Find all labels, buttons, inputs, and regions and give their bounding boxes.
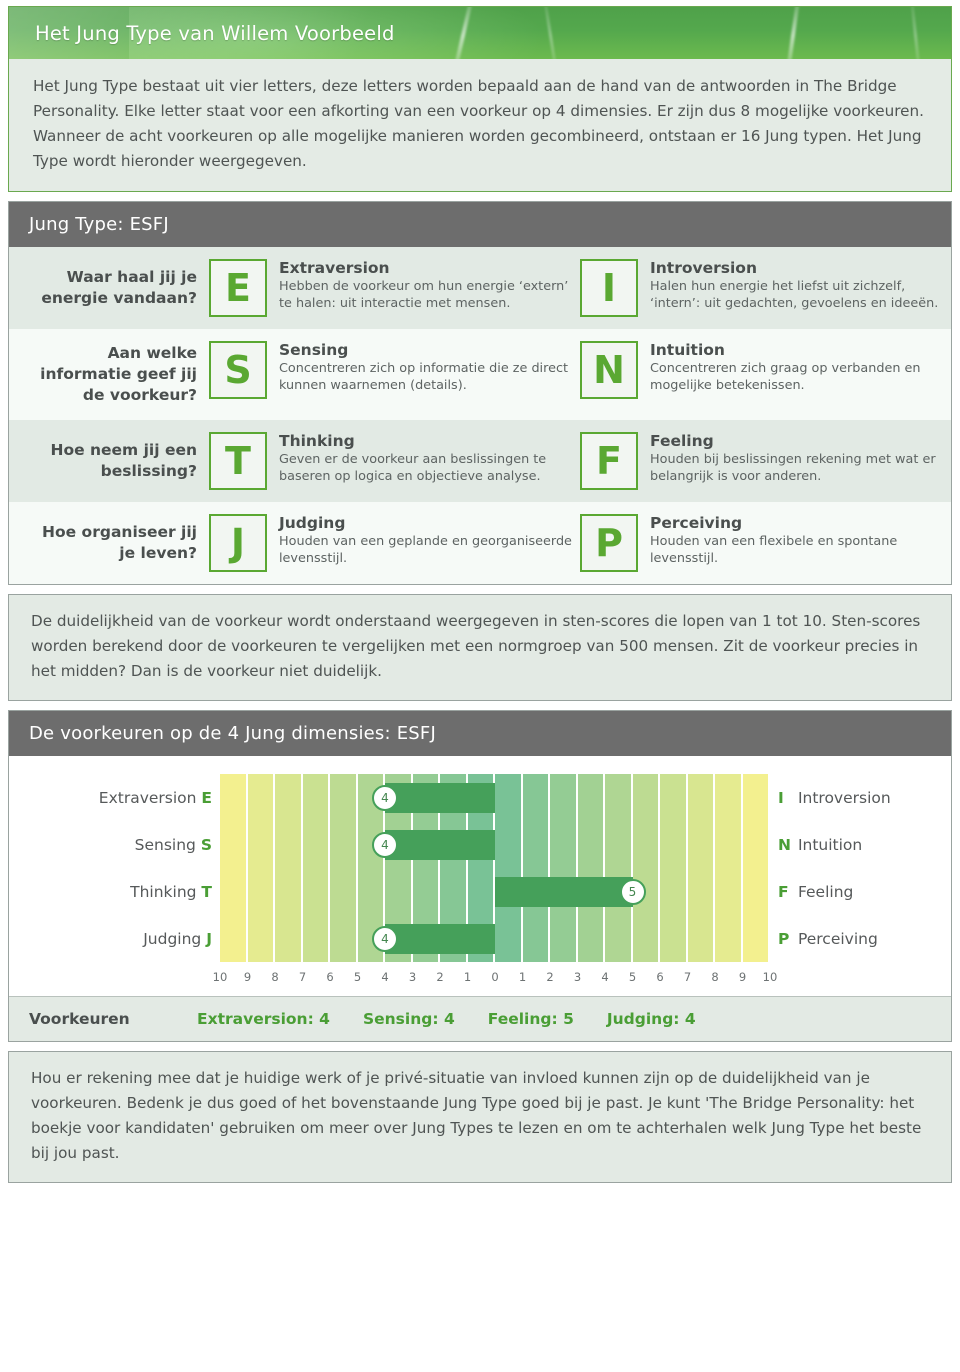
chart-tick-label: 10	[763, 970, 778, 984]
preference-name: Introversion	[650, 259, 943, 277]
chart-band	[248, 774, 274, 962]
chart-band	[220, 774, 246, 962]
chart-row-letter: E	[201, 789, 212, 807]
letter-box-t: T	[209, 432, 267, 490]
preference-description: Concentreren zich graag op verbanden en …	[650, 360, 943, 394]
chart-tick-label: 1	[464, 970, 471, 984]
preference-description: Houden van een flexibele en spontane lev…	[650, 533, 943, 567]
chart-left-row-label: Sensing S	[135, 836, 212, 854]
letter-box-e: E	[209, 259, 267, 317]
preference-cell-i: IIntroversionHalen hun energie het liefs…	[580, 247, 951, 329]
chart-left-labels: Extraversion ESensing SThinking TJudging…	[9, 774, 212, 962]
jung-type-row: Hoe organiseer jij je leven?JJudgingHoud…	[9, 502, 951, 584]
chart-right-labels: I IntroversionN IntuitionF FeelingP Perc…	[778, 774, 960, 962]
report-page: Het Jung Type van Willem Voorbeeld Het J…	[0, 0, 960, 1372]
chart-row-label: Sensing	[135, 836, 196, 854]
chart-tick-label: 10	[213, 970, 228, 984]
dimension-question: Aan welke informatie geef jij de voorkeu…	[9, 329, 209, 420]
jung-type-table: Waar haal jij je energie vandaan?EExtrav…	[9, 247, 951, 584]
preference-description: Hebben de voorkeur om hun energie ‘exter…	[279, 278, 572, 312]
jung-type-header: Jung Type: ESFJ	[9, 202, 951, 247]
chart-tick-label: 2	[436, 970, 443, 984]
chart-tick-label: 3	[574, 970, 581, 984]
chart-row-label: Introversion	[798, 789, 891, 807]
intro-text: Het Jung Type bestaat uit vier letters, …	[9, 59, 951, 191]
chart-bar	[385, 924, 495, 954]
jung-type-row: Waar haal jij je energie vandaan?EExtrav…	[9, 247, 951, 329]
chart-band	[605, 774, 631, 962]
jung-type-row: Hoe neem jij een beslissing?TThinkingGev…	[9, 420, 951, 502]
preference-cell-n: NIntuitionConcentreren zich graag op ver…	[580, 329, 951, 420]
chart-tick-label: 5	[629, 970, 636, 984]
chart-tick-label: 9	[739, 970, 746, 984]
preference-text: ExtraversionHebben de voorkeur om hun en…	[279, 259, 572, 312]
letter-box-p: P	[580, 514, 638, 572]
preference-cell-p: PPerceivingHouden van een flexibele en s…	[580, 502, 951, 584]
chart-tick-label: 6	[656, 970, 663, 984]
chart-row-label: Judging	[143, 930, 201, 948]
preference-name: Sensing	[279, 341, 572, 359]
chart-row-label: Feeling	[798, 883, 853, 901]
chart-row-label: Thinking	[130, 883, 196, 901]
chart-tick-label: 2	[546, 970, 553, 984]
preference-description: Halen hun energie het liefst uit zichzel…	[650, 278, 943, 312]
preference-name: Extraversion	[279, 259, 572, 277]
chart-score-marker: 4	[372, 832, 398, 858]
chart-plot	[220, 774, 770, 962]
chart-score-marker: 5	[620, 879, 646, 905]
preference-cell-f: FFeelingHouden bij beslissingen rekening…	[580, 420, 951, 502]
chart-tick-label: 4	[601, 970, 608, 984]
leaf-vein-icon	[785, 7, 801, 59]
preference-text: SensingConcentreren zich op informatie d…	[279, 341, 572, 394]
chart-bar	[495, 877, 633, 907]
chart-header: De voorkeuren op de 4 Jung dimensies: ES…	[9, 711, 951, 756]
preference-score: Judging: 4	[607, 1010, 696, 1028]
preference-cell-s: SSensingConcentreren zich op informatie …	[209, 329, 580, 420]
letter-box-s: S	[209, 341, 267, 399]
chart-tick-label: 7	[684, 970, 691, 984]
chart-band	[743, 774, 769, 962]
chart-band	[523, 774, 549, 962]
letter-box-j: J	[209, 514, 267, 572]
dimension-question: Hoe organiseer jij je leven?	[9, 502, 209, 584]
letter-box-n: N	[580, 341, 638, 399]
chart-band	[660, 774, 686, 962]
chart-left-row-label: Extraversion E	[99, 789, 212, 807]
preference-cell-j: JJudgingHouden van een geplande en georg…	[209, 502, 580, 584]
preference-text: FeelingHouden bij beslissingen rekening …	[650, 432, 943, 485]
chart-tick-label: 5	[354, 970, 361, 984]
chart-band	[715, 774, 741, 962]
chart-row-letter: P	[778, 930, 793, 948]
preferences-chart-panel: De voorkeuren op de 4 Jung dimensies: ES…	[8, 710, 952, 1042]
preference-cell-e: EExtraversionHebben de voorkeur om hun e…	[209, 247, 580, 329]
chart-row-letter: T	[201, 883, 212, 901]
preference-description: Concentreren zich op informatie die ze d…	[279, 360, 572, 394]
chart-tick-label: 4	[381, 970, 388, 984]
chart-right-row-label: I Introversion	[778, 789, 891, 807]
chart-row-letter: J	[206, 930, 212, 948]
chart-tick-label: 8	[271, 970, 278, 984]
chart-left-row-label: Judging J	[143, 930, 212, 948]
chart-row-letter: N	[778, 836, 793, 854]
letter-box-f: F	[580, 432, 638, 490]
preference-text: IntroversionHalen hun energie het liefst…	[650, 259, 943, 312]
preference-name: Intuition	[650, 341, 943, 359]
dimension-question: Waar haal jij je energie vandaan?	[9, 247, 209, 329]
letter-box-i: I	[580, 259, 638, 317]
chart-band	[688, 774, 714, 962]
chart-left-row-label: Thinking T	[130, 883, 212, 901]
chart-x-axis-ticks: 10987654321012345678910	[220, 970, 770, 990]
preference-score: Extraversion: 4	[197, 1010, 330, 1028]
preference-name: Feeling	[650, 432, 943, 450]
preferences-summary-row: Voorkeuren Extraversion: 4Sensing: 4Feel…	[9, 996, 951, 1041]
preference-description: Geven er de voorkeur aan beslissingen te…	[279, 451, 572, 485]
chart-bar	[385, 830, 495, 860]
preference-text: JudgingHouden van een geplande en georga…	[279, 514, 572, 567]
chart-tick-label: 1	[519, 970, 526, 984]
chart-tick-label: 8	[711, 970, 718, 984]
preference-text: PerceivingHouden van een flexibele en sp…	[650, 514, 943, 567]
preference-score: Feeling: 5	[488, 1010, 574, 1028]
chart-row-label: Perceiving	[798, 930, 878, 948]
preferences-label: Voorkeuren	[29, 1010, 197, 1028]
chart-bar	[385, 783, 495, 813]
chart-score-marker: 4	[372, 785, 398, 811]
chart-band	[495, 774, 521, 962]
sten-score-note: De duidelijkheid van de voorkeur wordt o…	[8, 594, 952, 701]
chart-row-label: Intuition	[798, 836, 862, 854]
preference-name: Perceiving	[650, 514, 943, 532]
preferences-values: Extraversion: 4Sensing: 4Feeling: 5Judgi…	[197, 1010, 729, 1028]
chart-band	[303, 774, 329, 962]
chart-row-letter: F	[778, 883, 793, 901]
preference-description: Houden bij beslissingen rekening met wat…	[650, 451, 943, 485]
chart-tick-label: 7	[299, 970, 306, 984]
chart-right-row-label: P Perceiving	[778, 930, 878, 948]
chart-right-row-label: F Feeling	[778, 883, 853, 901]
chart-right-row-label: N Intuition	[778, 836, 862, 854]
chart-tick-label: 3	[409, 970, 416, 984]
footer-note: Hou er rekening mee dat je huidige werk …	[8, 1051, 952, 1183]
page-title: Het Jung Type van Willem Voorbeeld	[9, 22, 395, 45]
chart-tick-label: 6	[326, 970, 333, 984]
chart-score-marker: 4	[372, 926, 398, 952]
preference-cell-t: TThinkingGeven er de voorkeur aan beslis…	[209, 420, 580, 502]
chart-band	[633, 774, 659, 962]
report-banner: Het Jung Type van Willem Voorbeeld	[9, 7, 951, 59]
dimension-question: Hoe neem jij een beslissing?	[9, 420, 209, 502]
chart-band	[275, 774, 301, 962]
preference-name: Judging	[279, 514, 572, 532]
chart-band	[330, 774, 356, 962]
chart-row-letter: S	[201, 836, 212, 854]
preference-name: Thinking	[279, 432, 572, 450]
leaf-vein-icon	[910, 7, 922, 59]
preference-score: Sensing: 4	[363, 1010, 455, 1028]
chart-band	[578, 774, 604, 962]
chart-tick-label: 9	[244, 970, 251, 984]
chart-band	[550, 774, 576, 962]
preference-text: ThinkingGeven er de voorkeur aan besliss…	[279, 432, 572, 485]
preference-text: IntuitionConcentreren zich graag op verb…	[650, 341, 943, 394]
chart-row-label: Extraversion	[99, 789, 197, 807]
chart-row-letter: I	[778, 789, 793, 807]
chart-tick-label: 0	[491, 970, 498, 984]
preference-description: Houden van een geplande en georganiseerd…	[279, 533, 572, 567]
chart-area: Extraversion ESensing SThinking TJudging…	[9, 756, 951, 996]
intro-panel: Het Jung Type van Willem Voorbeeld Het J…	[8, 6, 952, 192]
jung-type-panel: Jung Type: ESFJ Waar haal jij je energie…	[8, 201, 952, 585]
jung-type-row: Aan welke informatie geef jij de voorkeu…	[9, 329, 951, 420]
